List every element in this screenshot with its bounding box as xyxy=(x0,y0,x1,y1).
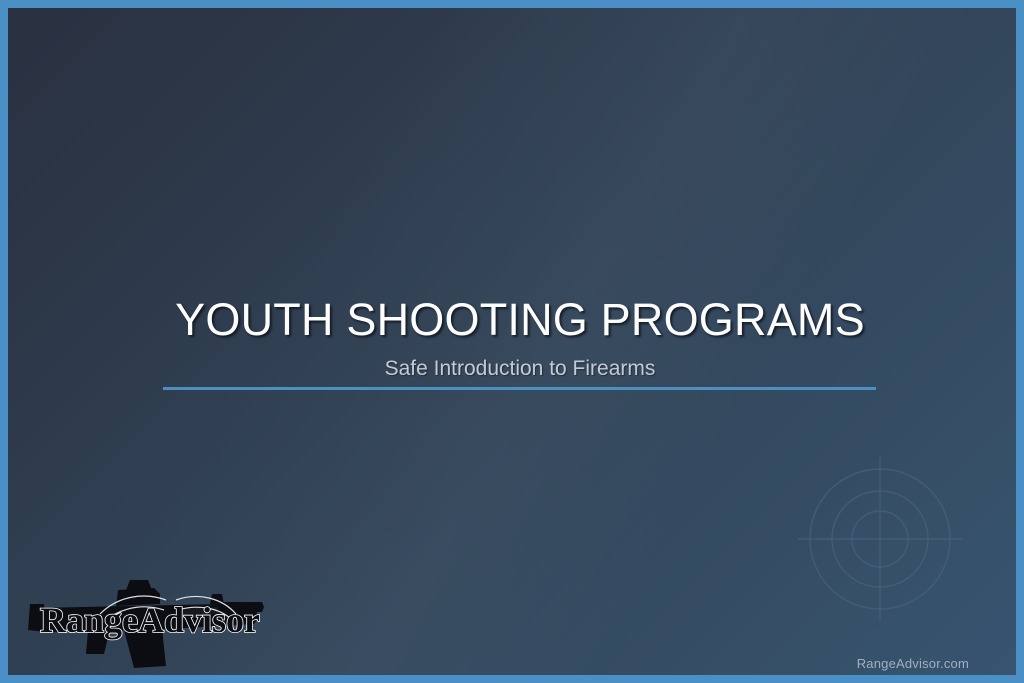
footer-url: RangeAdvisor.com xyxy=(857,656,969,671)
brand-logo: RangeAdvisor xyxy=(26,574,274,672)
title-block: YOUTH SHOOTING PROGRAMS Safe Introductio… xyxy=(8,296,1024,381)
brand-logo-wordmark: RangeAdvisor xyxy=(40,600,260,640)
presentation-slide: YOUTH SHOOTING PROGRAMS Safe Introductio… xyxy=(0,0,1024,683)
page-title: YOUTH SHOOTING PROGRAMS xyxy=(8,296,1024,344)
page-subtitle: Safe Introduction to Firearms xyxy=(8,356,1024,381)
title-divider xyxy=(163,387,876,390)
